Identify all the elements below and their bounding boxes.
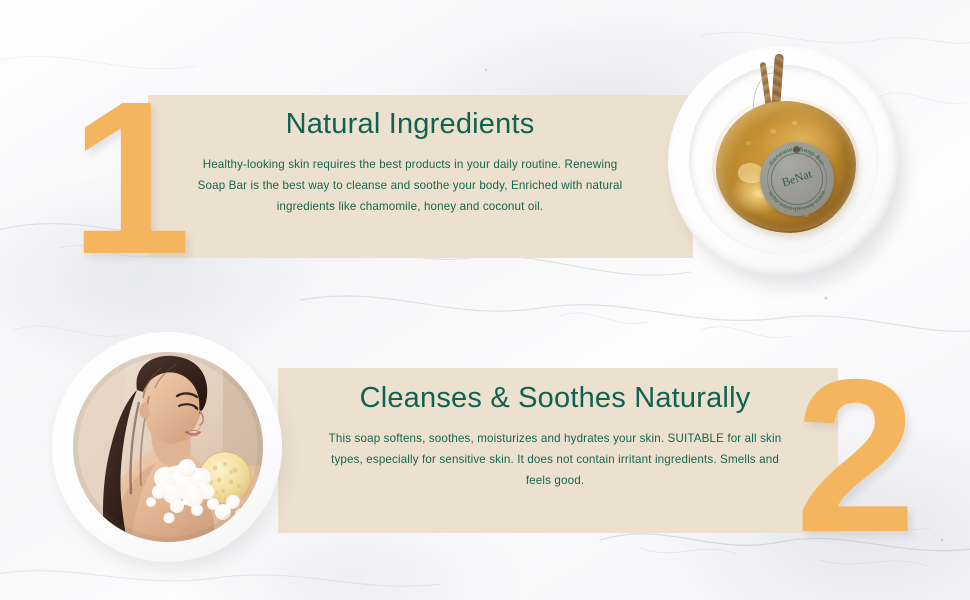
soap-hang-tag: Renewing Soap Bar www.benathome.com BeNa…: [760, 142, 834, 216]
feature-body-1: Healthy-looking skin requires the best p…: [190, 155, 630, 217]
feature-heading-1: Natural Ingredients: [190, 108, 630, 141]
feature-content-1: Natural Ingredients Healthy-looking skin…: [190, 108, 630, 217]
feature-content-2: Cleanses & Soothes Naturally This soap s…: [320, 382, 790, 491]
feature-number-1: 1: [70, 70, 187, 288]
soap-plate-image: Renewing Soap Bar www.benathome.com BeNa…: [668, 46, 906, 284]
feature-number-2: 2: [795, 348, 912, 566]
photo-disc: [73, 352, 263, 542]
product-benefits-banner: 1 Natural Ingredients Healthy-looking sk…: [0, 0, 970, 600]
shower-photo-image: [52, 332, 288, 568]
feature-heading-2: Cleanses & Soothes Naturally: [320, 382, 790, 415]
feature-body-2: This soap softens, soothes, moisturizes …: [320, 429, 790, 491]
